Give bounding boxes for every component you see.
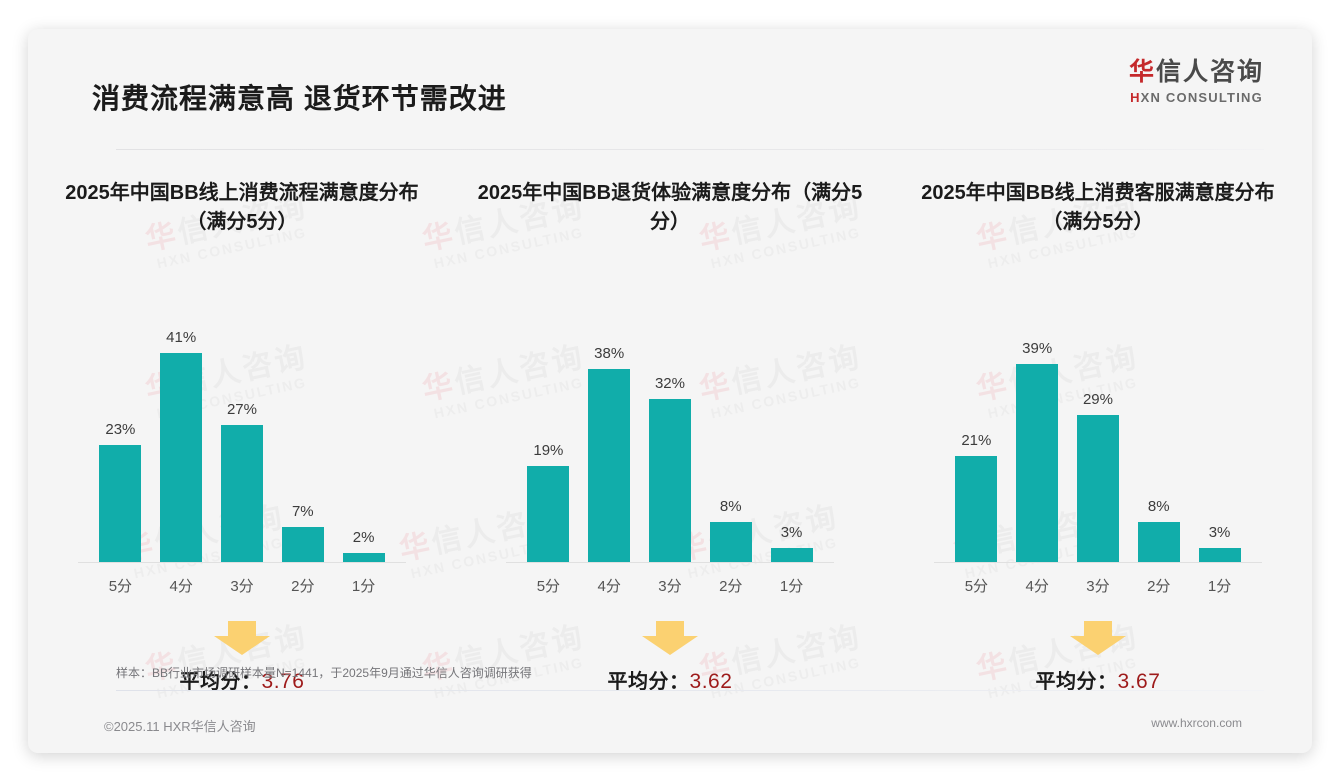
- logo-en-rest: XN CONSULTING: [1141, 90, 1263, 105]
- chart-panel-3: 2025年中国BB线上消费客服满意度分布（满分5分）21%39%29%8%3%5…: [884, 179, 1312, 711]
- x-axis-labels: 5分4分3分2分1分: [90, 575, 394, 596]
- chart-title: 2025年中国BB线上消费客服满意度分布（满分5分）: [898, 179, 1298, 245]
- bar-group: 41%: [151, 295, 212, 563]
- bar-value-label: 38%: [594, 345, 624, 362]
- bar[interactable]: [771, 548, 813, 563]
- bar[interactable]: [1199, 548, 1241, 563]
- down-arrow-icon: [1070, 621, 1126, 655]
- logo-char-hua: 华: [1129, 58, 1156, 86]
- bar-value-label: 3%: [1209, 524, 1231, 541]
- bar-group: 3%: [1189, 295, 1250, 563]
- bar[interactable]: [527, 466, 569, 563]
- logo-en-h: H: [1130, 90, 1141, 105]
- slide-footer: ©2025.11 HXR华信人咨询 www.hxrcon.com: [28, 716, 1312, 735]
- footer-copyright: ©2025.11 HXR华信人咨询: [104, 716, 256, 735]
- x-tick-label: 1分: [761, 575, 822, 596]
- bar[interactable]: [649, 399, 691, 563]
- bar-value-label: 8%: [720, 498, 742, 515]
- x-axis-line: [934, 562, 1262, 563]
- bar-group: 8%: [1128, 295, 1189, 563]
- x-tick-label: 1分: [333, 575, 394, 596]
- x-tick-label: 2分: [1128, 575, 1189, 596]
- bar[interactable]: [99, 445, 141, 563]
- page-title: 消费流程满意高 退货环节需改进: [92, 77, 507, 117]
- footnote-section: 样本：BB行业市场调研样本量N=1441，于2025年9月通过华信人咨询调研获得: [28, 664, 1312, 691]
- bar[interactable]: [1016, 364, 1058, 563]
- x-tick-label: 3分: [1068, 575, 1129, 596]
- bar-group: 38%: [579, 295, 640, 563]
- bar[interactable]: [710, 522, 752, 563]
- x-axis-labels: 5分4分3分2分1分: [946, 575, 1250, 596]
- down-arrow-icon: [642, 621, 698, 655]
- bars-container: 23%41%27%7%2%: [90, 295, 394, 563]
- slide-header: 消费流程满意高 退货环节需改进 华信人咨询 HXN CONSULTING: [28, 29, 1312, 121]
- bar-group: 29%: [1068, 295, 1129, 563]
- bar-value-label: 27%: [227, 401, 257, 418]
- logo-english: HXN CONSULTING: [1129, 90, 1264, 105]
- bar-group: 23%: [90, 295, 151, 563]
- x-tick-label: 2分: [272, 575, 333, 596]
- footer-divider: [116, 690, 1264, 691]
- x-tick-label: 4分: [151, 575, 212, 596]
- chart-title: 2025年中国BB退货体验满意度分布（满分5分）: [470, 179, 870, 245]
- chart-panel-1: 2025年中国BB线上消费流程满意度分布（满分5分）23%41%27%7%2%5…: [28, 179, 456, 711]
- header-divider: [116, 149, 1264, 150]
- brand-logo: 华信人咨询 HXN CONSULTING: [1129, 59, 1264, 105]
- slide-page: 华信人咨询HXN CONSULTING华信人咨询HXN CONSULTING华信…: [0, 0, 1340, 780]
- x-axis-line: [506, 562, 834, 563]
- x-tick-label: 2分: [700, 575, 761, 596]
- x-axis-line: [78, 562, 406, 563]
- bar-value-label: 7%: [292, 503, 314, 520]
- charts-row: 2025年中国BB线上消费流程满意度分布（满分5分）23%41%27%7%2%5…: [28, 179, 1312, 711]
- x-axis-labels: 5分4分3分2分1分: [518, 575, 822, 596]
- bar-value-label: 41%: [166, 329, 196, 346]
- bar-chart-plot: 19%38%32%8%3%5分4分3分2分1分: [470, 295, 870, 563]
- bar[interactable]: [588, 369, 630, 563]
- chart-title: 2025年中国BB线上消费流程满意度分布（满分5分）: [42, 179, 442, 245]
- x-tick-label: 5分: [518, 575, 579, 596]
- bar-value-label: 8%: [1148, 498, 1170, 515]
- bar-value-label: 3%: [781, 524, 803, 541]
- bar-group: 8%: [700, 295, 761, 563]
- bar-chart-plot: 23%41%27%7%2%5分4分3分2分1分: [42, 295, 442, 563]
- bar[interactable]: [282, 527, 324, 563]
- bar-value-label: 32%: [655, 375, 685, 392]
- bar-value-label: 29%: [1083, 391, 1113, 408]
- bar[interactable]: [160, 353, 202, 563]
- bar-value-label: 19%: [533, 442, 563, 459]
- chart-panel-2: 2025年中国BB退货体验满意度分布（满分5分）19%38%32%8%3%5分4…: [456, 179, 884, 711]
- down-arrow-icon: [214, 621, 270, 655]
- footer-website[interactable]: www.hxrcon.com: [1151, 716, 1242, 735]
- bar-group: 2%: [333, 295, 394, 563]
- bar-value-label: 39%: [1022, 340, 1052, 357]
- x-tick-label: 4分: [579, 575, 640, 596]
- bars-container: 21%39%29%8%3%: [946, 295, 1250, 563]
- x-tick-label: 5分: [946, 575, 1007, 596]
- bar-group: 7%: [272, 295, 333, 563]
- bar[interactable]: [1138, 522, 1180, 563]
- bar-chart-plot: 21%39%29%8%3%5分4分3分2分1分: [898, 295, 1298, 563]
- bar-group: 27%: [212, 295, 273, 563]
- slide-card: 华信人咨询HXN CONSULTING华信人咨询HXN CONSULTING华信…: [28, 29, 1312, 753]
- x-tick-label: 3分: [212, 575, 273, 596]
- x-tick-label: 4分: [1007, 575, 1068, 596]
- bar[interactable]: [955, 456, 997, 563]
- bars-container: 19%38%32%8%3%: [518, 295, 822, 563]
- bar[interactable]: [1077, 415, 1119, 563]
- bar-value-label: 21%: [961, 432, 991, 449]
- bar-group: 39%: [1007, 295, 1068, 563]
- footnote-text: 样本：BB行业市场调研样本量N=1441，于2025年9月通过华信人咨询调研获得: [116, 664, 1264, 690]
- x-tick-label: 5分: [90, 575, 151, 596]
- bar-value-label: 2%: [353, 529, 375, 546]
- bar-value-label: 23%: [105, 421, 135, 438]
- bar-group: 21%: [946, 295, 1007, 563]
- bar[interactable]: [221, 425, 263, 563]
- bar-group: 3%: [761, 295, 822, 563]
- logo-chinese: 华信人咨询: [1129, 59, 1264, 87]
- bar-group: 19%: [518, 295, 579, 563]
- logo-chinese-rest: 信人咨询: [1156, 58, 1264, 86]
- bar-group: 32%: [640, 295, 701, 563]
- x-tick-label: 3分: [640, 575, 701, 596]
- x-tick-label: 1分: [1189, 575, 1250, 596]
